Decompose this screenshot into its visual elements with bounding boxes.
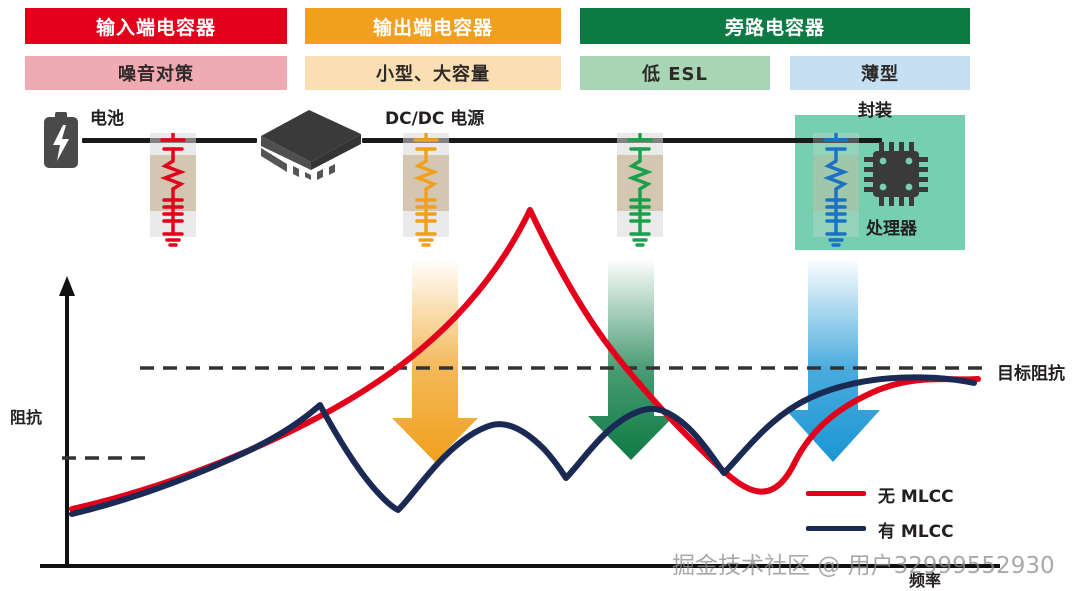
legend-swatch-with-mlcc: [806, 526, 866, 531]
header-input-capacitor: 输入端电容器: [25, 8, 287, 44]
header-output-capacitor-label: 输出端电容器: [373, 13, 493, 40]
header-row-sub: 噪音对策 小型、大容量 低 ESL 薄型: [0, 56, 1080, 90]
subheader-thin-type-label: 薄型: [861, 60, 899, 86]
output-arrow: [392, 258, 478, 462]
target-impedance-label: 目标阻抗: [997, 359, 1065, 384]
header-bypass-capacitor-label: 旁路电容器: [725, 13, 825, 40]
header-input-capacitor-label: 输入端电容器: [96, 13, 216, 40]
chart-legend: 无 MLCC 有 MLCC: [806, 482, 986, 546]
infographic-root: 输入端电容器 输出端电容器 旁路电容器 噪音对策 小型、大容量 低 ESL 薄型…: [0, 0, 1080, 589]
subheader-thin-type: 薄型: [790, 56, 970, 90]
bypass-arrow: [588, 258, 674, 460]
battery-icon: [44, 112, 78, 168]
watermark: 掘金技术社区 @ 用户32999552930: [672, 546, 1055, 580]
subheader-small-high-capacity-label: 小型、大容量: [376, 60, 490, 86]
header-output-capacitor: 输出端电容器: [305, 8, 561, 44]
legend-label-without-mlcc: 无 MLCC: [878, 482, 954, 507]
y-axis-label: 阻抗: [10, 404, 42, 428]
header-row-main: 输入端电容器 输出端电容器 旁路电容器: [0, 8, 1080, 44]
processor-chip-icon: [864, 142, 928, 206]
dcdc-label: DC/DC 电源: [385, 104, 484, 129]
battery-label: 电池: [90, 104, 124, 129]
subheader-small-high-capacity: 小型、大容量: [305, 56, 561, 90]
curve-without-mlcc: [72, 210, 978, 509]
processor-label: 处理器: [866, 214, 917, 239]
package-arrow: [786, 258, 880, 462]
dcdc-chip-icon: [253, 106, 365, 180]
legend-swatch-without-mlcc: [806, 491, 866, 496]
package-label: 封装: [858, 96, 892, 121]
header-bypass-capacitor: 旁路电容器: [580, 8, 970, 44]
legend-label-with-mlcc: 有 MLCC: [878, 517, 954, 542]
subheader-low-esl: 低 ESL: [580, 56, 770, 90]
subheader-noise-countermeasure-label: 噪音对策: [118, 60, 194, 86]
subheader-low-esl-label: 低 ESL: [642, 60, 708, 86]
subheader-noise-countermeasure: 噪音对策: [25, 56, 287, 90]
